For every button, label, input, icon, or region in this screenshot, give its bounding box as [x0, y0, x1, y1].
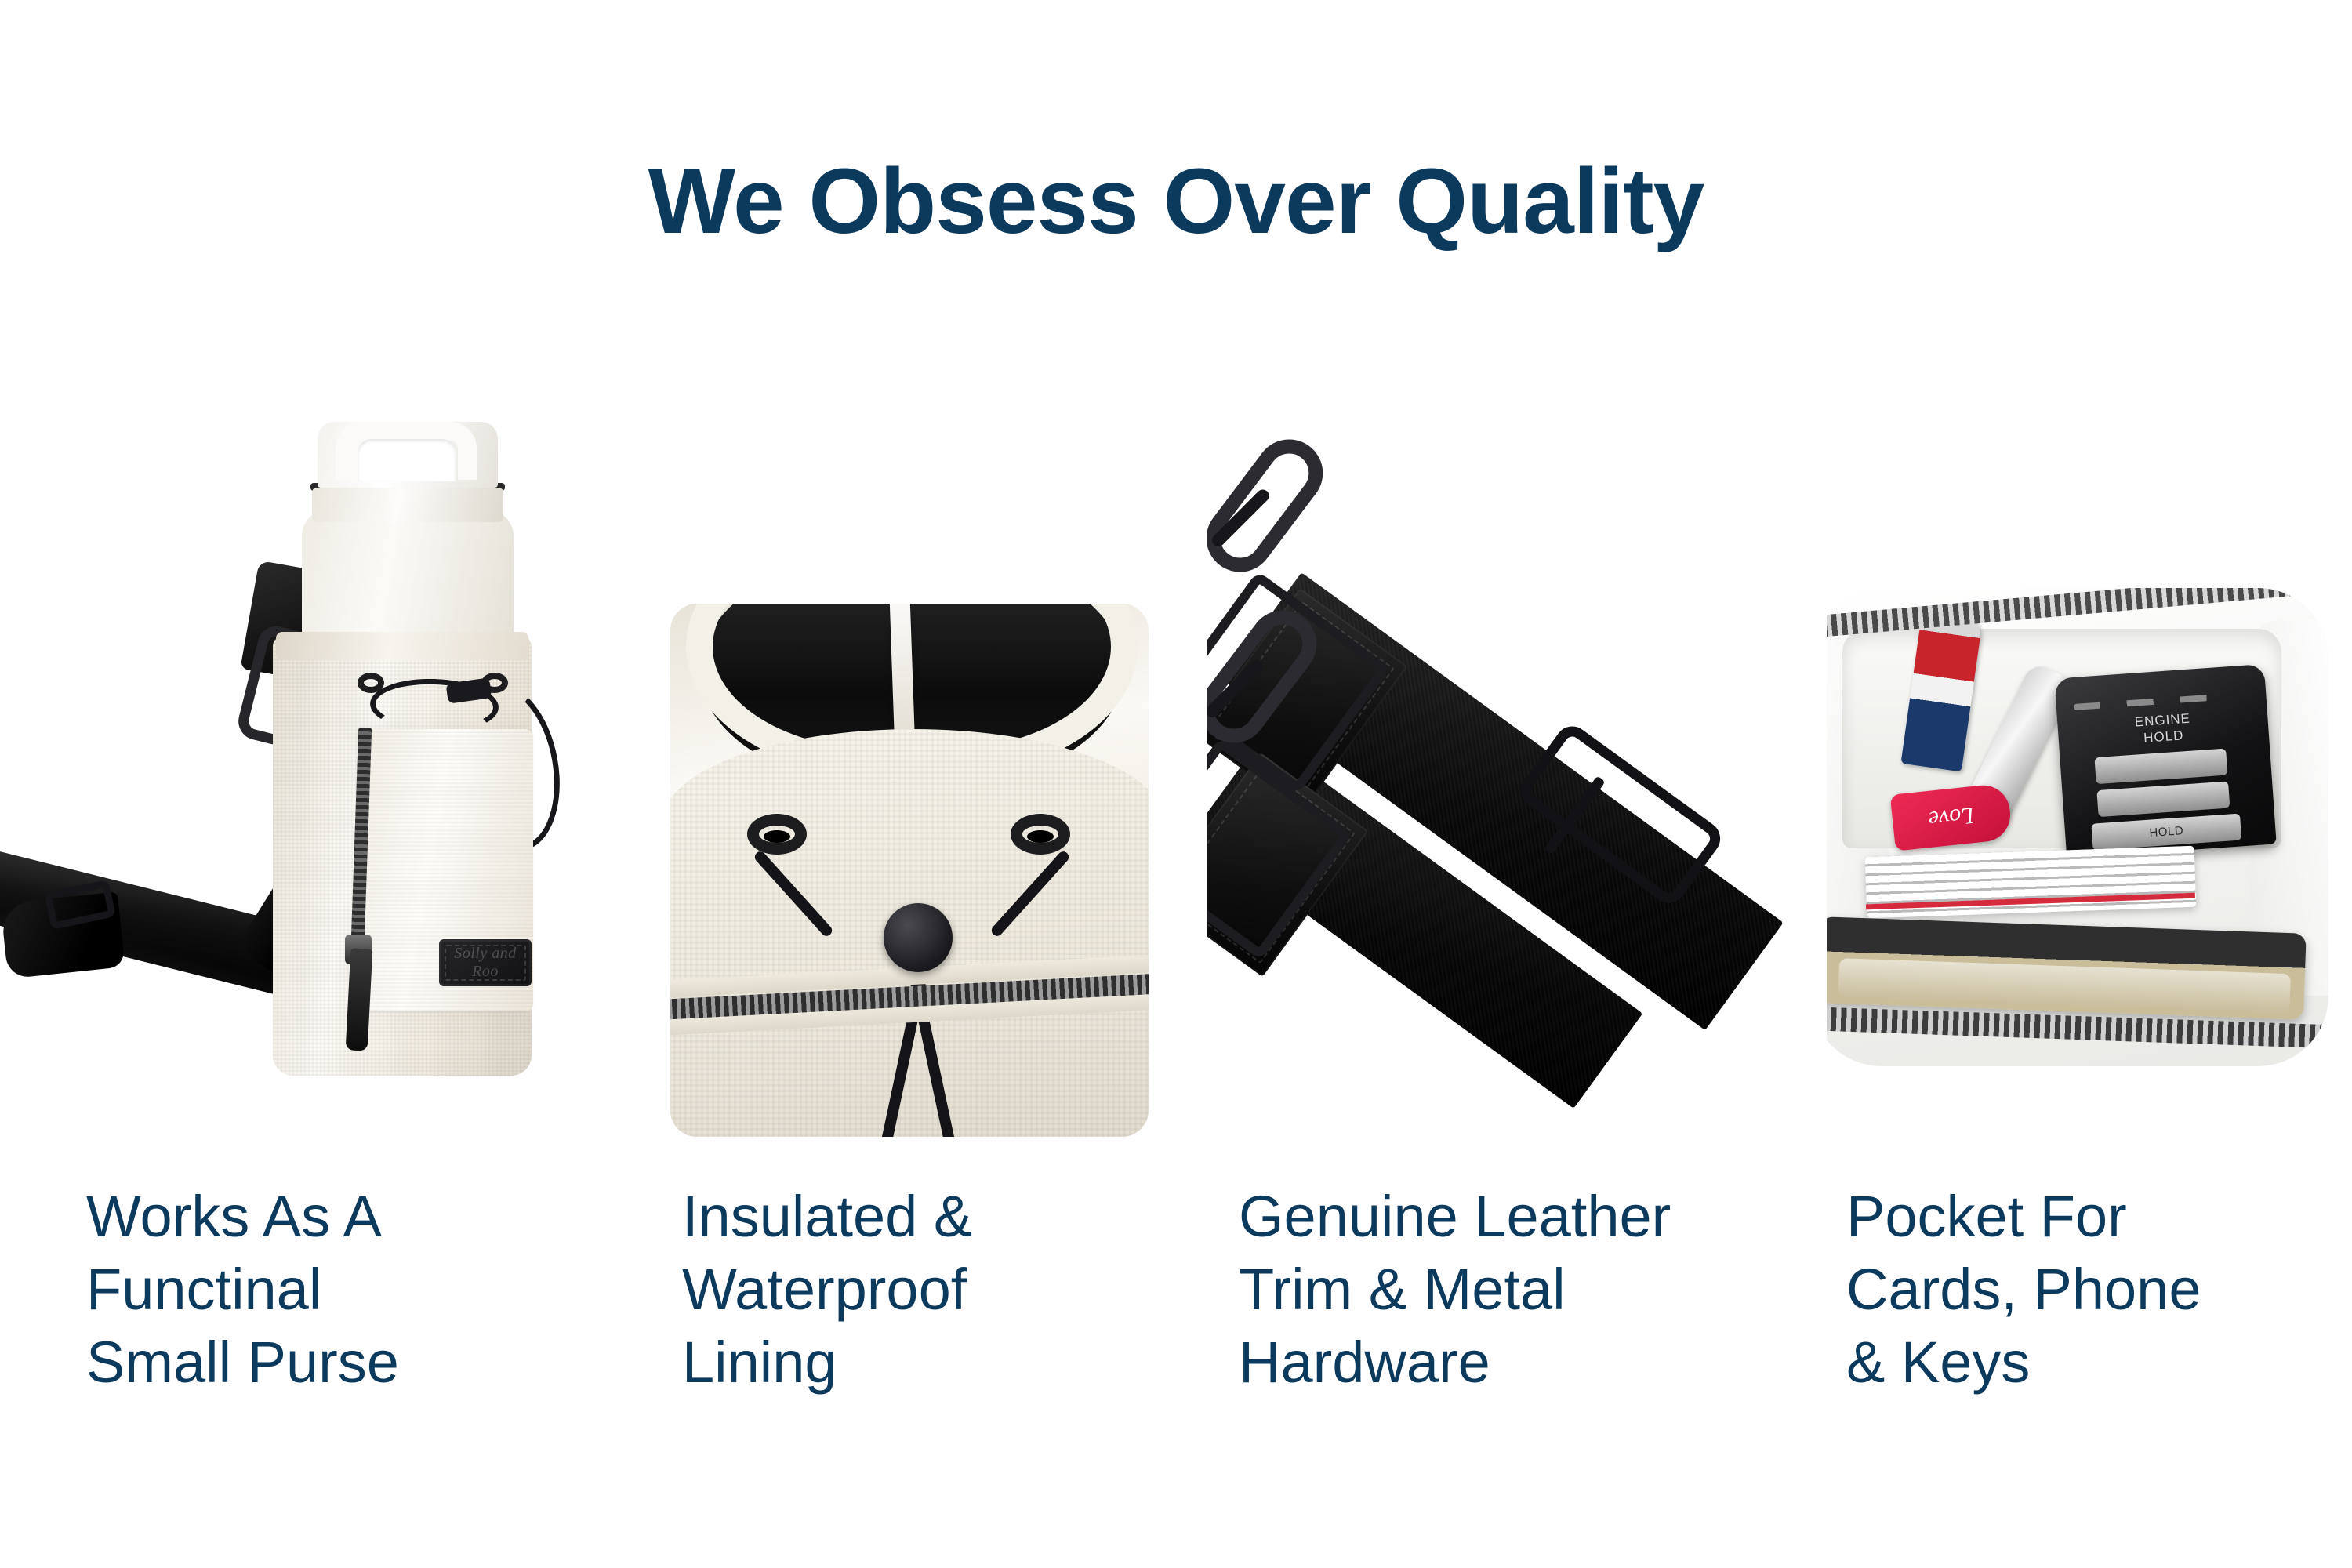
canvas-sleeve-cuff	[276, 632, 528, 660]
feature-card-leather-hardware: Genuine Leather Trim & Metal Hardware	[1207, 408, 1803, 1505]
product-photo-strap-hardware	[1207, 408, 1803, 1137]
caption-line: Lining	[682, 1326, 1168, 1399]
caption-line: Works As A	[86, 1180, 572, 1253]
feature-card-pocket-storage: Love ENGINE HOLD HOLD	[1827, 408, 2352, 1505]
feature-grid: Solly and Roo Works As A Functinal Small…	[0, 408, 2352, 1505]
feature-caption-leather-hardware: Genuine Leather Trim & Metal Hardware	[1239, 1180, 1803, 1399]
caption-line: Hardware	[1239, 1326, 1803, 1399]
grommet-right-icon	[1011, 814, 1070, 855]
fob-lock-label	[2097, 788, 2230, 811]
fob-indicator-lights	[2074, 693, 2230, 710]
feature-caption-functional-purse: Works As A Functinal Small Purse	[86, 1180, 572, 1399]
fob-hold-text: HOLD	[2143, 728, 2184, 746]
caption-line: Pocket For	[1846, 1180, 2352, 1253]
tumbler-neck	[312, 488, 503, 522]
feature-card-insulated-lining: Insulated & Waterproof Lining	[651, 408, 1168, 1505]
fob-engine-label: ENGINE HOLD	[2057, 705, 2269, 753]
keychain-label: Love	[1892, 797, 2012, 836]
car-key-fob: ENGINE HOLD HOLD	[2054, 664, 2276, 858]
feature-caption-pocket-storage: Pocket For Cards, Phone & Keys	[1846, 1180, 2352, 1399]
tumbler-handle-opening	[358, 439, 456, 481]
fob-unlock-button[interactable]	[2094, 749, 2227, 785]
caption-line: Functinal	[86, 1253, 572, 1326]
fob-unlock-label	[2095, 755, 2227, 778]
caption-line: Trim & Metal	[1239, 1253, 1803, 1326]
leather-logo-patch: Solly and Roo	[439, 939, 532, 986]
page-title: We Obsess Over Quality	[0, 154, 2352, 251]
product-photo-pocket-contents: Love ENGINE HOLD HOLD	[1827, 408, 2352, 1137]
phone-in-clear-case	[1827, 916, 2307, 1020]
fob-trunk-label: HOLD	[2092, 820, 2241, 844]
feature-card-functional-purse: Solly and Roo Works As A Functinal Small…	[0, 408, 604, 1505]
caption-line: & Keys	[1846, 1326, 2352, 1399]
carabiner-clip-upper-icon	[1207, 426, 1337, 585]
caption-line: Cards, Phone	[1846, 1253, 2352, 1326]
cord-toggle-icon	[884, 903, 953, 972]
caption-line: Genuine Leather	[1239, 1180, 1803, 1253]
product-photo-lining-closeup	[651, 408, 1168, 1137]
fob-engine-text: ENGINE	[2134, 711, 2190, 730]
phone-case-edge	[1838, 958, 2291, 1013]
brand-logo-text: Solly and Roo	[439, 945, 532, 981]
grommet-left-icon	[747, 814, 807, 855]
caption-line: Small Purse	[86, 1326, 572, 1399]
caption-line: Waterproof	[682, 1253, 1168, 1326]
fob-lock-button[interactable]	[2096, 781, 2230, 817]
product-photo-bottle-sling: Solly and Roo	[0, 408, 604, 1137]
feature-caption-insulated-lining: Insulated & Waterproof Lining	[682, 1180, 1168, 1399]
fob-trunk-button[interactable]: HOLD	[2091, 814, 2241, 851]
caption-line: Insulated &	[682, 1180, 1168, 1253]
